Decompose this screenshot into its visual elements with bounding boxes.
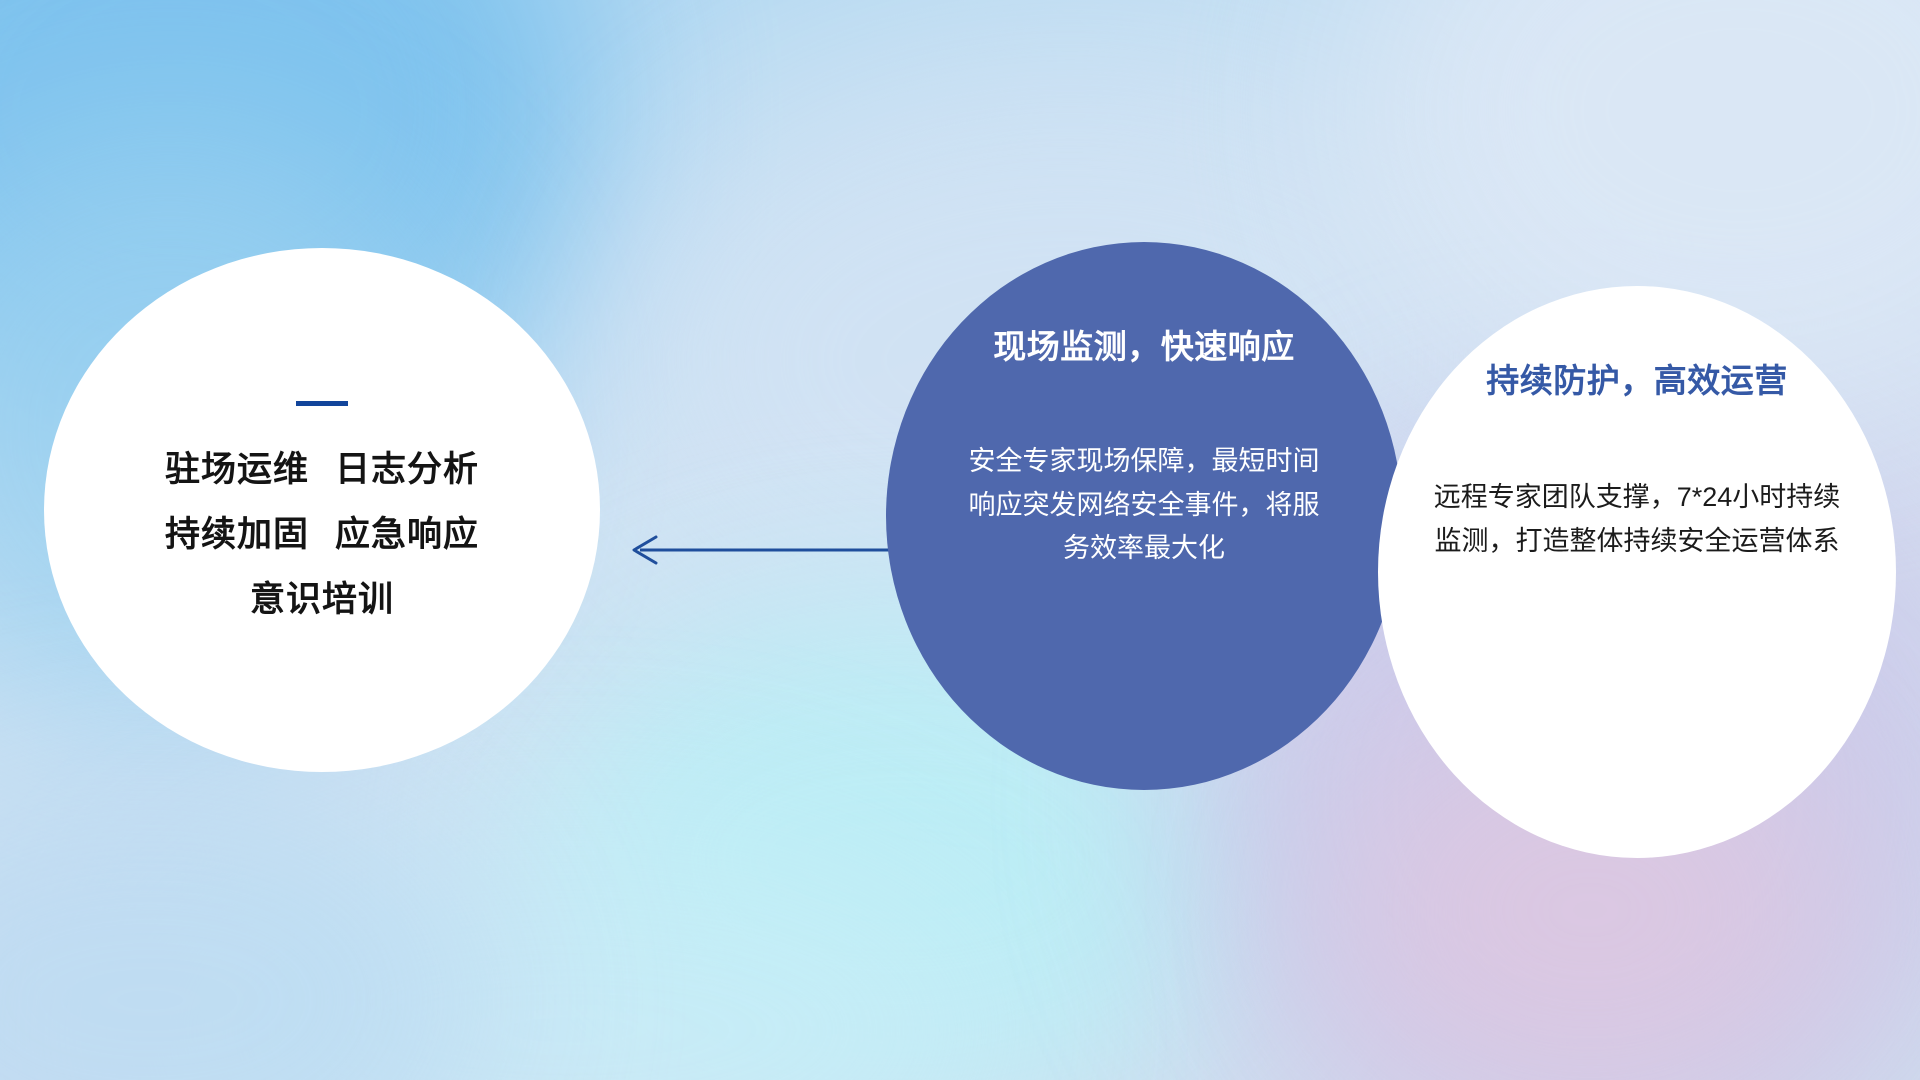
keyword-driver-ops: 驻场运维 — [165, 450, 309, 489]
keyword-awareness-training: 意识培训 — [250, 582, 394, 619]
keyword-continuous-hardening: 持续加固 — [165, 515, 309, 554]
keyword-emergency-response: 应急响应 — [335, 515, 479, 554]
capability-card-middle[interactable]: 现场监测，快速响应 安全专家现场保障，最短时间响应突发网络安全事件，将服务效率最… — [886, 242, 1402, 790]
keyword-log-analysis: 日志分析 — [335, 450, 479, 489]
arrow-left-icon — [610, 520, 900, 580]
card-title-middle: 现场监测，快速响应 — [993, 320, 1295, 368]
slide-canvas: 驻场运维日志分析 持续加固应急响应 意识培训 现场监测，快速响应 安全专家现场保… — [0, 0, 1920, 1080]
card-body-right: 远程专家团队支撑，7*24小时持续监测，打造整体持续安全运营体系 — [1433, 476, 1841, 563]
title-divider — [296, 401, 348, 406]
keyword-row: 驻场运维日志分析 — [165, 452, 479, 489]
background-blob-bottom-cyan — [120, 820, 1020, 1080]
capability-card-left[interactable]: 驻场运维日志分析 持续加固应急响应 意识培训 — [44, 248, 600, 772]
card-title-right: 持续防护，高效运营 — [1486, 354, 1788, 402]
background-blob-bottom-left — [0, 760, 500, 1080]
keyword-row: 持续加固应急响应 — [165, 517, 479, 554]
capability-card-right[interactable]: 持续防护，高效运营 远程专家团队支撑，7*24小时持续监测，打造整体持续安全运营… — [1378, 286, 1896, 858]
card-body-middle: 安全专家现场保障，最短时间响应突发网络安全事件，将服务效率最大化 — [964, 440, 1324, 571]
